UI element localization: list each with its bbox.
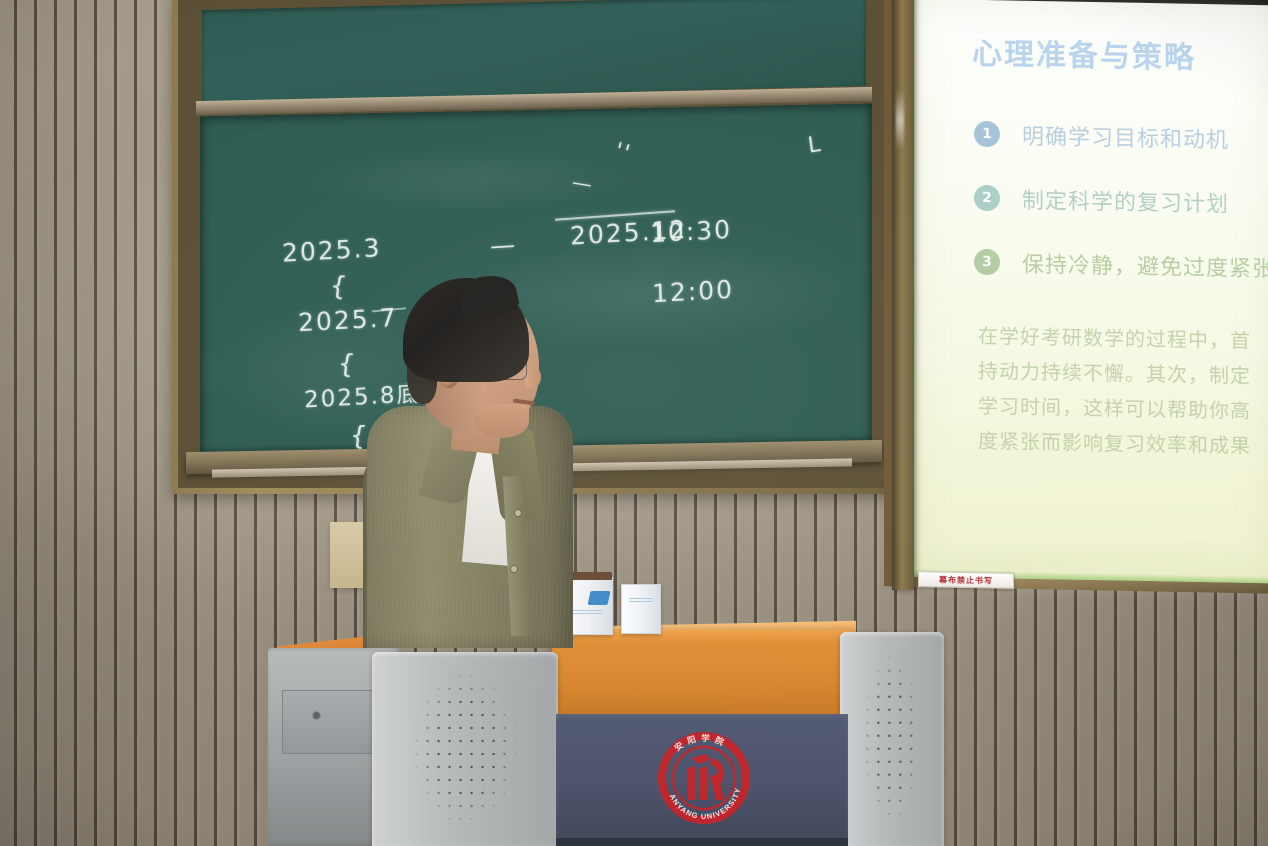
bullet-label: 明确学习目标和动机 <box>1022 119 1229 155</box>
podium-drawer[interactable] <box>282 690 374 754</box>
slide-bullet-item: 3 保持冷静，避免过度紧张 <box>974 246 1268 283</box>
bullet-number-badge: 1 <box>974 121 1000 147</box>
projection-screen: 心理准备与策略 1 明确学习目标和动机 2 制定科学的复习计划 3 保持冷静，避… <box>912 0 1268 583</box>
speaker-perforation-grid <box>862 651 922 826</box>
podium-base <box>556 838 848 846</box>
slide-bullet-list: 1 明确学习目标和动机 2 制定科学的复习计划 3 保持冷静，避免过度紧张 <box>974 118 1268 315</box>
slide-paragraph-line: 度紧张而影响复习效率和成果 <box>978 425 1268 466</box>
chalk-text-date-start: 2025.3 <box>281 233 382 268</box>
no-writing-sign: 幕布禁止书写 <box>918 571 1014 589</box>
speaker-perforation-grid <box>411 669 519 828</box>
bullet-number-badge: 2 <box>974 185 1000 211</box>
box-brand-logo <box>588 591 611 605</box>
slide-bullet-item: 1 明确学习目标和动机 <box>974 118 1268 155</box>
lecturer-nose <box>525 366 541 388</box>
podium-speaker-right <box>840 632 944 846</box>
podium-desk-surface <box>552 630 852 716</box>
chalk-box-barcode <box>621 584 661 634</box>
podium-speaker-left <box>372 652 558 846</box>
slide-bullet-item: 2 制定科学的复习计划 <box>974 182 1268 219</box>
bullet-label: 保持冷静，避免过度紧张 <box>1022 247 1268 284</box>
chalk-text-dash: — <box>489 230 517 261</box>
jacket-button <box>515 510 521 516</box>
post-highlight <box>896 90 904 150</box>
slide-title: 心理准备与策略 <box>972 38 1196 75</box>
bullet-number-badge: 3 <box>974 249 1000 275</box>
chalk-text-time-2: 12:00 <box>652 275 735 308</box>
slide-paragraph: 在学好考研数学的过程中，首 持动力持续不懈。其次，制定 学习时间，这样可以帮助你… <box>978 320 1268 466</box>
lecturer <box>355 278 585 648</box>
bullet-label: 制定科学的复习计划 <box>1022 183 1229 219</box>
classroom-scene: 2025.3 — 2025.12 { 2025.7 { 2025.8底 { 20… <box>0 0 1268 846</box>
box-barcode <box>629 598 653 602</box>
chalk-text-time-1: 10:30 <box>650 215 733 248</box>
chalk-brace-1: { <box>328 271 351 303</box>
anyang-university-emblem: 安 阳 学 院 ANYANG UNIVERSITY <box>648 724 760 832</box>
chalk-mark-c: — <box>570 170 596 197</box>
blackboard-upper-panel <box>202 0 866 102</box>
jacket-button <box>511 566 517 572</box>
podium-drawer-lock[interactable] <box>313 712 320 719</box>
projection-screen-post <box>892 0 914 590</box>
